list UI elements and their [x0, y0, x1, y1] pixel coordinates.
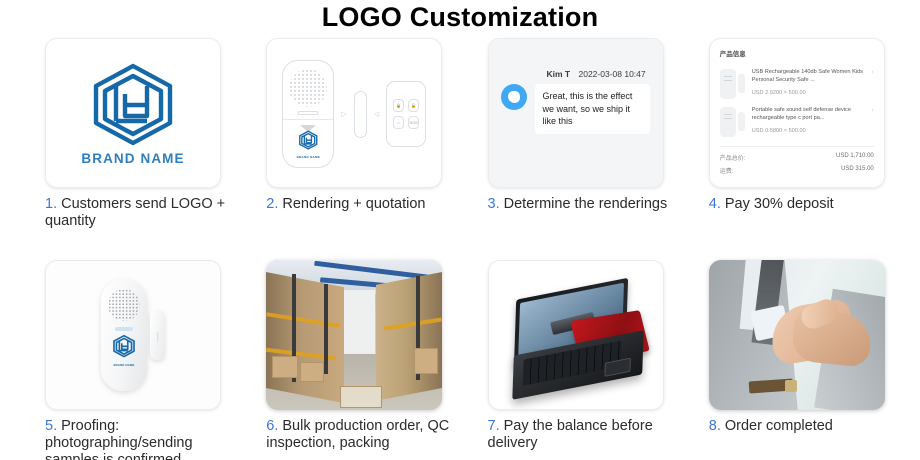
order-total-label: 产品总价:	[720, 153, 746, 162]
remote-home-button: ⌂	[393, 116, 404, 129]
order-item-name: USB Rechargeable 140db Safe Women Kids P…	[752, 69, 866, 84]
avatar	[501, 84, 527, 110]
floor-pallet	[340, 386, 382, 408]
cardboard-box	[414, 348, 438, 374]
step-1-caption-text: Customers send LOGO + quantity	[45, 196, 225, 229]
step-3-caption-text: Determine the renderings	[504, 196, 668, 212]
order-item-text: Portable safe sound self defense device …	[752, 107, 866, 137]
shelving-rack-right	[376, 272, 442, 401]
shelving-rack-left	[266, 272, 344, 403]
order-shipping-label: 运费:	[720, 166, 734, 175]
led-indicator	[115, 327, 133, 331]
remote-control-render: 🔒 🔓 ⌂ SOS	[386, 81, 426, 147]
order-shipping-value: USD 315.00	[841, 166, 874, 175]
step-3-thumbnail[interactable]: Kim T 2022-03-08 10:47 Great, this is th…	[488, 38, 664, 188]
step-5-caption-text: Proofing: photographing/sending samples …	[45, 418, 193, 460]
order-item-name: Portable safe sound self defense device …	[752, 107, 866, 122]
hexagon-monogram-icon	[111, 334, 137, 358]
step-card-3[interactable]: Kim T 2022-03-08 10:47 Great, this is th…	[488, 38, 699, 230]
alarm-device-photo: BRAND NAME	[101, 279, 147, 391]
order-item-price: USD 0.5800 × 500.00	[752, 128, 866, 134]
brand-name-text: BRAND NAME	[81, 151, 184, 166]
step-8-number: 8.	[709, 418, 721, 434]
step-card-2[interactable]: BRAND NAME ▷ ◁ 🔒 🔓 ⌂ SOS	[266, 38, 477, 230]
product-thumbnail	[720, 69, 746, 99]
chat-timestamp: 2022-03-08 10:47	[579, 69, 646, 79]
product-photo: BRAND NAME	[46, 261, 220, 409]
chat-meta: Kim T 2022-03-08 10:47	[547, 69, 651, 79]
logo-customization-infographic: LOGO Customization	[0, 0, 920, 460]
divider	[720, 146, 874, 147]
step-8-thumbnail[interactable]	[709, 260, 885, 410]
step-card-1[interactable]: BRAND NAME 1. Customers send LOGO + quan…	[45, 38, 256, 230]
step-2-caption-text: Rendering + quotation	[282, 196, 425, 212]
step-3-caption: 3. Determine the renderings	[488, 196, 693, 213]
step-2-caption: 2. Rendering + quotation	[266, 196, 471, 213]
led-slot	[298, 111, 319, 115]
step-card-8[interactable]: 8. Order completed	[709, 260, 920, 460]
step-5-number: 5.	[45, 418, 57, 434]
alarm-device-render: BRAND NAME	[282, 60, 334, 168]
order-line-item: Portable safe sound self defense device …	[720, 103, 874, 141]
step-card-7[interactable]: 7. Pay the balance before delivery	[488, 260, 699, 460]
product-thumbnail	[720, 107, 746, 137]
device-brand-label: BRAND NAME	[297, 155, 321, 159]
step-card-4[interactable]: 产品信息 USB Rechargeable 140db Safe Women K…	[709, 38, 920, 230]
cardboard-box	[272, 356, 298, 378]
order-item-text: USB Rechargeable 140db Safe Women Kids P…	[752, 69, 866, 99]
step-7-number: 7.	[488, 418, 500, 434]
device-divider	[283, 119, 333, 120]
device-brand-label: BRAND NAME	[111, 363, 137, 367]
step-6-caption: 6. Bulk production order, QC inspection,…	[266, 418, 471, 452]
chat-sender: Kim T	[547, 69, 571, 79]
chevron-right-icon: ›	[871, 69, 873, 76]
step-card-5[interactable]: BRAND NAME 5. Proofing: photographing/se…	[45, 260, 256, 460]
step-2-number: 2.	[266, 196, 278, 212]
page-title: LOGO Customization	[0, 2, 920, 33]
steps-row-1: BRAND NAME 1. Customers send LOGO + quan…	[0, 38, 920, 230]
step-6-number: 6.	[266, 418, 278, 434]
cardboard-box	[300, 362, 324, 382]
order-line-item: USB Rechargeable 140db Safe Women Kids P…	[720, 65, 874, 103]
order-total-value: USD 1,710.00	[836, 153, 874, 162]
device-logo: BRAND NAME	[111, 334, 137, 367]
step-1-number: 1.	[45, 196, 57, 212]
order-shipping-row: 运费: USD 315.00	[720, 164, 874, 177]
order-summary: 产品信息 USB Rechargeable 140db Safe Women K…	[710, 39, 884, 187]
order-header: 产品信息	[720, 48, 874, 58]
chevron-left-icon: ◁	[374, 110, 379, 118]
chevron-right-icon: ›	[871, 107, 873, 114]
chat-message: Great, this is the effect we want, so we…	[535, 84, 650, 134]
step-2-thumbnail[interactable]: BRAND NAME ▷ ◁ 🔒 🔓 ⌂ SOS	[266, 38, 442, 188]
warehouse-photo	[266, 260, 442, 410]
chevron-right-icon: ▷	[341, 110, 346, 118]
device-rendering: BRAND NAME ▷ ◁ 🔒 🔓 ⌂ SOS	[267, 39, 441, 187]
handshake-photo	[709, 260, 885, 410]
step-7-caption-text: Pay the balance before delivery	[488, 418, 653, 451]
step-8-caption: 8. Order completed	[709, 418, 914, 435]
step-5-caption: 5. Proofing: photographing/sending sampl…	[45, 418, 250, 460]
device-logo: BRAND NAME	[297, 130, 321, 159]
laptop-payment-photo	[489, 261, 663, 409]
magnet-render	[354, 91, 367, 138]
brand-logo: BRAND NAME	[46, 39, 220, 187]
step-4-caption-text: Pay 30% deposit	[725, 196, 834, 212]
step-7-thumbnail[interactable]	[488, 260, 664, 410]
magnet-photo	[150, 310, 165, 360]
step-5-thumbnail[interactable]: BRAND NAME	[45, 260, 221, 410]
rack-post	[324, 284, 328, 374]
step-6-thumbnail[interactable]	[266, 260, 442, 410]
step-6-caption-text: Bulk production order, QC inspection, pa…	[266, 418, 449, 451]
remote-unlock-button: 🔓	[408, 99, 419, 112]
steps-grid: BRAND NAME 1. Customers send LOGO + quan…	[0, 38, 920, 460]
step-3-number: 3.	[488, 196, 500, 212]
step-8-caption-text: Order completed	[725, 418, 833, 434]
chat-row: Great, this is the effect we want, so we…	[501, 84, 651, 134]
speaker-grill-icon	[289, 69, 327, 107]
order-total-row: 产品总价: USD 1,710.00	[720, 151, 874, 164]
hexagon-monogram-icon	[297, 130, 319, 150]
steps-row-2: BRAND NAME 5. Proofing: photographing/se…	[0, 260, 920, 460]
step-1-caption: 1. Customers send LOGO + quantity	[45, 196, 250, 230]
step-1-thumbnail[interactable]: BRAND NAME	[45, 38, 221, 188]
step-7-caption: 7. Pay the balance before delivery	[488, 418, 693, 452]
speaker-grill-icon	[108, 289, 140, 321]
step-4-caption: 4. Pay 30% deposit	[709, 196, 914, 213]
step-4-number: 4.	[709, 196, 721, 212]
chat-screenshot: Kim T 2022-03-08 10:47 Great, this is th…	[489, 39, 663, 187]
step-card-6[interactable]: 6. Bulk production order, QC inspection,…	[266, 260, 477, 460]
step-4-thumbnail[interactable]: 产品信息 USB Rechargeable 140db Safe Women K…	[709, 38, 885, 188]
remote-lock-button: 🔒	[393, 99, 404, 112]
hexagon-monogram-icon	[85, 61, 181, 147]
order-item-price: USD 2.9200 × 500.00	[752, 90, 866, 96]
belt-buckle	[785, 380, 797, 392]
remote-sos-button: SOS	[408, 116, 419, 129]
